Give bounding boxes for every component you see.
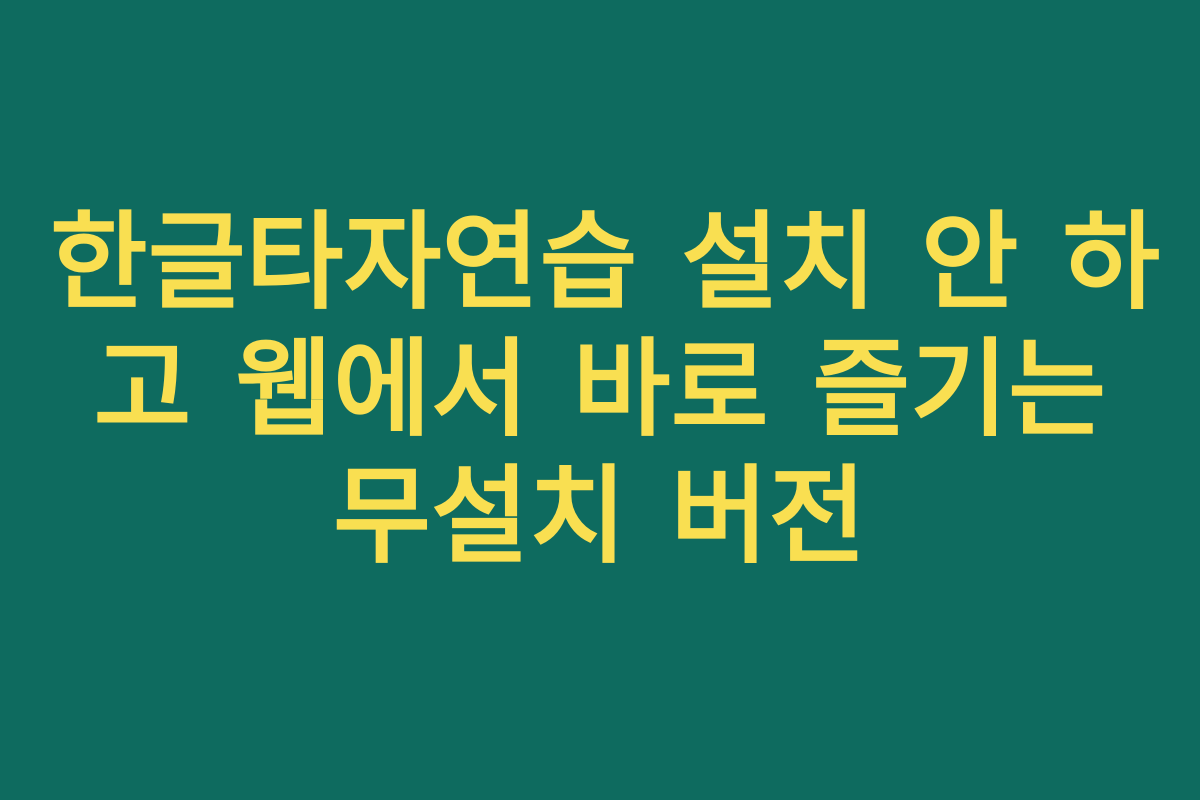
headline-line-3: 무설치 버전 bbox=[50, 453, 1150, 580]
headline-line-2: 고 웹에서 바로 즐기는 bbox=[50, 326, 1150, 453]
page-title: 한글타자연습 설치 안 하 고 웹에서 바로 즐기는 무설치 버전 bbox=[50, 199, 1150, 602]
headline-line-1: 한글타자연습 설치 안 하 bbox=[50, 199, 1150, 326]
banner-card: 한글타자연습 설치 안 하 고 웹에서 바로 즐기는 무설치 버전 bbox=[0, 0, 1200, 800]
